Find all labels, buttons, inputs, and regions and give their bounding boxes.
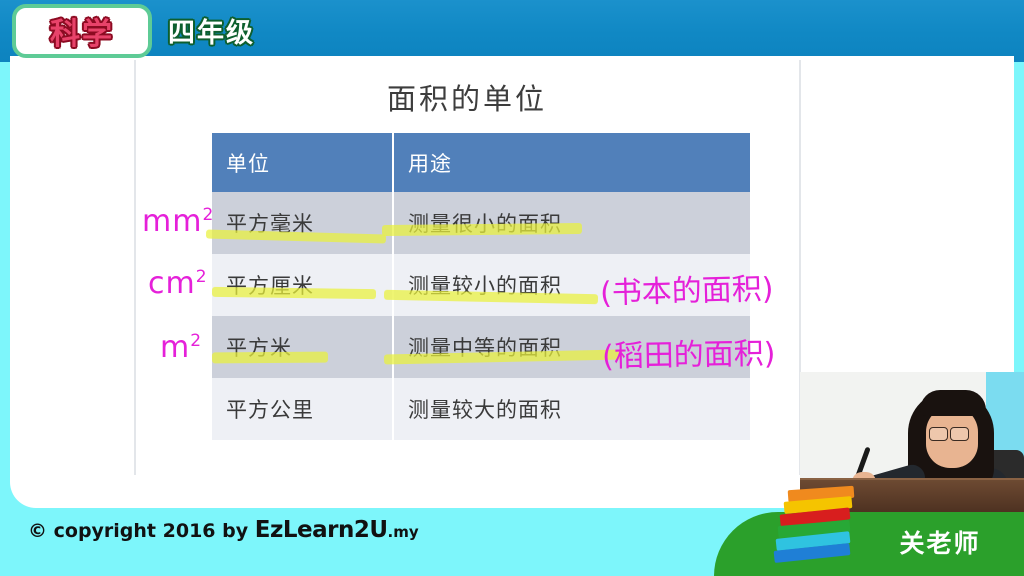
ink-annotation-mm2: mm2 xyxy=(142,204,214,239)
subject-badge-label: 科学 xyxy=(12,4,152,58)
highlight-stroke xyxy=(212,352,328,364)
cell-unit: 平方公里 xyxy=(212,378,393,440)
book-stack-icon xyxy=(772,486,862,568)
copyright-symbol: © xyxy=(28,520,47,542)
ink-annotation-m2: m2 xyxy=(160,330,202,365)
cell-unit: 平方厘米 xyxy=(212,254,393,316)
ink-annotation-cm2: cm2 xyxy=(148,266,208,301)
page-title: 面积的单位 xyxy=(134,76,800,118)
highlight-stroke xyxy=(382,223,582,236)
ink-unit-exponent: 2 xyxy=(202,205,214,225)
ink-note-paddy-area: (稻田的面积) xyxy=(602,328,776,375)
copyright-text: copyright 2016 by xyxy=(54,520,249,542)
webcam-teacher-fringe xyxy=(920,390,986,416)
ink-unit-base: m xyxy=(160,330,190,365)
table-header-unit: 单位 xyxy=(212,133,393,192)
table-header-row: 单位 用途 xyxy=(212,133,750,192)
ink-note-book-area: (书本的面积) xyxy=(599,264,774,313)
cell-unit: 平方米 xyxy=(212,316,393,378)
cell-usage: 测量较大的面积 xyxy=(393,378,750,440)
top-banner xyxy=(0,0,1024,62)
cell-unit: 平方毫米 xyxy=(212,192,393,254)
ink-unit-exponent: 2 xyxy=(196,267,208,287)
ink-unit-base: mm xyxy=(142,204,202,239)
grade-label: 四年级 xyxy=(168,10,255,50)
brand-name: EzLearn2U xyxy=(255,517,388,543)
ink-unit-exponent: 2 xyxy=(190,331,202,351)
table-header-usage: 用途 xyxy=(393,133,750,192)
teacher-name-label: 关老师 xyxy=(876,524,1004,560)
table-row: 平方公里 测量较大的面积 xyxy=(212,378,750,440)
ink-unit-base: cm xyxy=(148,266,196,301)
copyright-notice: © copyright 2016 by EzLearn2U.my xyxy=(28,517,419,543)
brand-suffix: .my xyxy=(388,523,419,541)
glasses-left-icon xyxy=(929,427,948,441)
slide-guide-line-left xyxy=(134,60,136,475)
glasses-right-icon xyxy=(950,427,969,441)
slide-stage: 科学 四年级 面积的单位 单位 用途 平方毫米 测量很小的面积 平方厘米 测量较… xyxy=(0,0,1024,576)
